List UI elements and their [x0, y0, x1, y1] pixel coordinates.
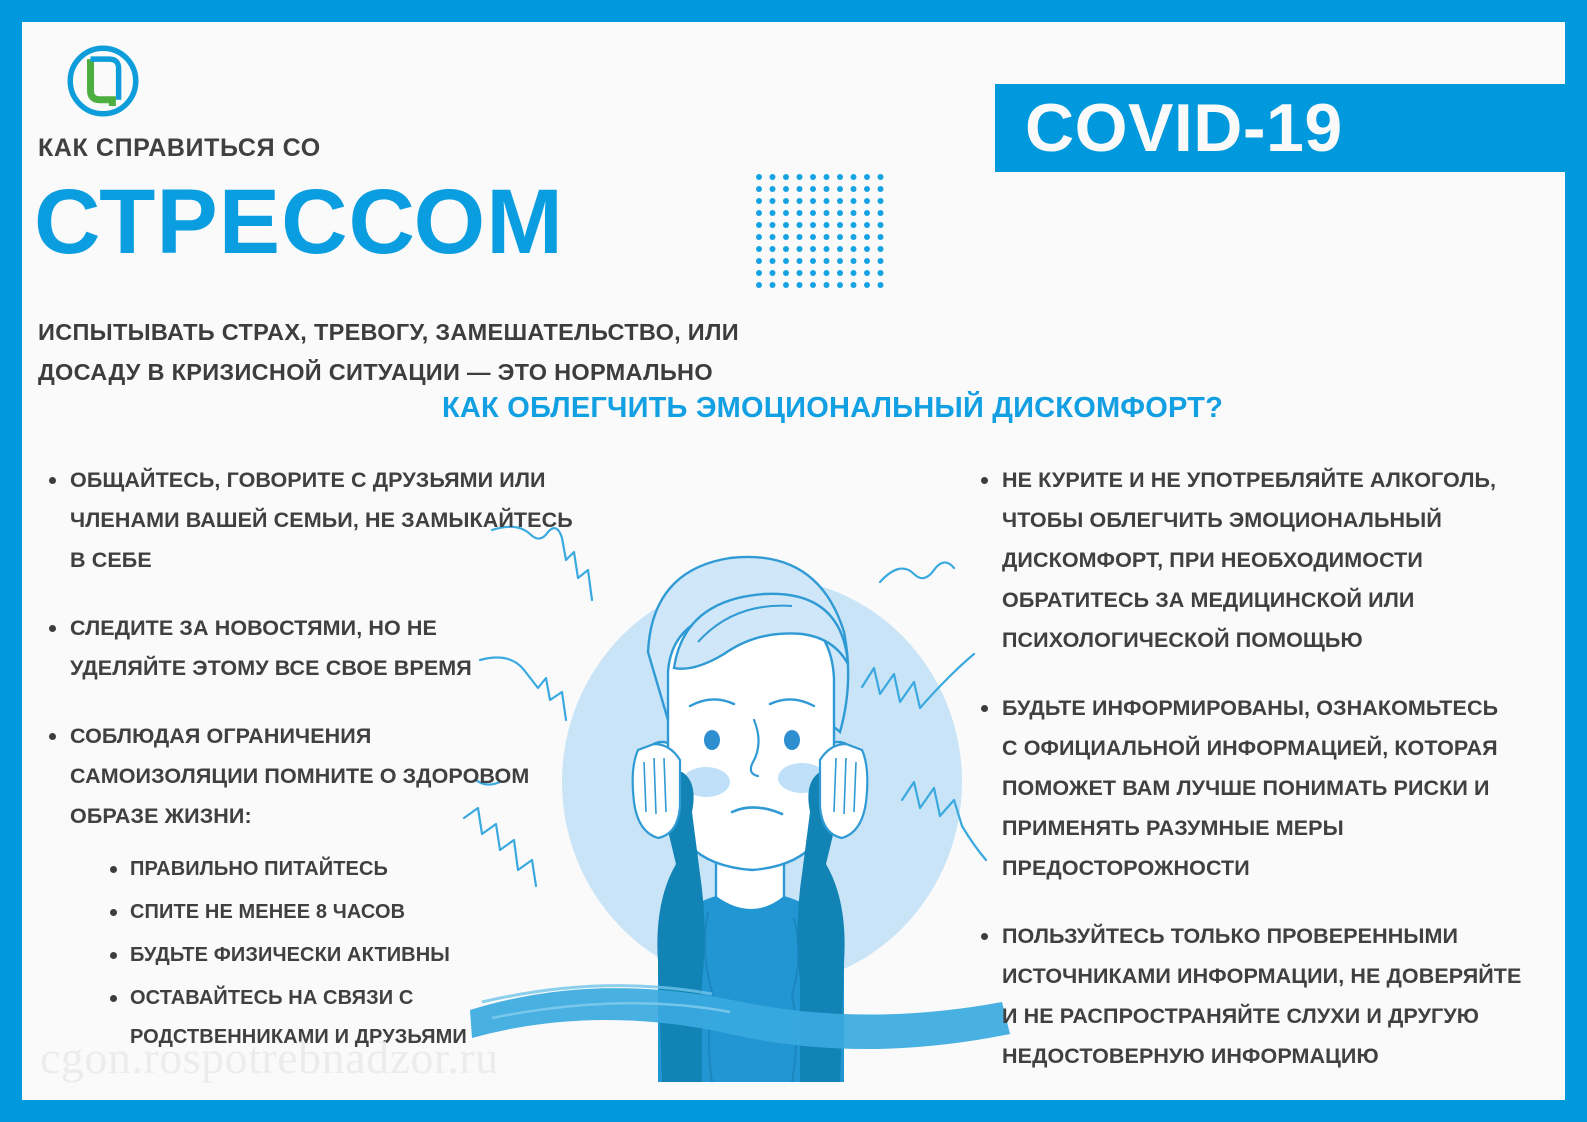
list-item: ПОЛЬЗУЙТЕСЬ ТОЛЬКО ПРОВЕРЕННЫМИ ИСТОЧНИК… [970, 916, 1550, 1076]
sub-bullet-line: ОСТАВАЙТЕСЬ НА СВЯЗИ С [130, 979, 608, 1018]
sub-list: ПРАВИЛЬНО ПИТАЙТЕСЬ СПИТЕ НЕ МЕНЕЕ 8 ЧАС… [70, 850, 608, 1057]
list-item: ОБЩАЙТЕСЬ, ГОВОРИТЕ С ДРУЗЬЯМИ ИЛИ ЧЛЕНА… [38, 460, 608, 580]
site-watermark: cgon.rospotrebnadzor.ru [40, 1031, 499, 1084]
list-item: СОБЛЮДАЯ ОГРАНИЧЕНИЯ САМОИЗОЛЯЦИИ ПОМНИТ… [38, 716, 608, 1057]
sub-bullet-line: ПРАВИЛЬНО ПИТАЙТЕСЬ [130, 850, 608, 889]
list-item: БУДЬТЕ ИНФОРМИРОВАНЫ, ОЗНАКОМЬТЕСЬ С ОФИ… [970, 688, 1550, 888]
bullet-line: БУДЬТЕ ИНФОРМИРОВАНЫ, ОЗНАКОМЬТЕСЬ [1002, 688, 1550, 728]
bullet-line: ОБРАЗЕ ЖИЗНИ: [70, 796, 608, 836]
bullet-line: И НЕ РАСПРОСТРАНЯЙТЕ СЛУХИ И ДРУГУЮ [1002, 996, 1550, 1036]
subtitle-line: ИСПЫТЫВАТЬ СТРАХ, ТРЕВОГУ, ЗАМЕШАТЕЛЬСТВ… [38, 312, 738, 352]
sub-bullet-line: БУДЬТЕ ФИЗИЧЕСКИ АКТИВНЫ [130, 936, 608, 975]
sub-list-item: СПИТЕ НЕ МЕНЕЕ 8 ЧАСОВ [102, 893, 608, 932]
bullet-line: ПОЛЬЗУЙТЕСЬ ТОЛЬКО ПРОВЕРЕННЫМИ [1002, 916, 1550, 956]
bullet-line: В СЕБЕ [70, 540, 608, 580]
bullet-line: ДИСКОМФОРТ, ПРИ НЕОБХОДИМОСТИ [1002, 540, 1550, 580]
bullet-line: СЛЕДИТЕ ЗА НОВОСТЯМИ, НО НЕ [70, 608, 608, 648]
subtitle-line: ДОСАДУ В КРИЗИСНОЙ СИТУАЦИИ — ЭТО НОРМАЛ… [38, 352, 738, 392]
page-kicker: КАК СПРАВИТЬСЯ СО [38, 134, 321, 163]
covid-banner: COVID-19 [995, 84, 1565, 172]
sub-list-item: ПРАВИЛЬНО ПИТАЙТЕСЬ [102, 850, 608, 889]
dot-grid-decoration [756, 174, 886, 294]
sub-list-item: БУДЬТЕ ФИЗИЧЕСКИ АКТИВНЫ [102, 936, 608, 975]
poster-root: COVID-19 КАК СПРАВИТЬСЯ СО СТРЕССОМ ИСПЫ… [0, 0, 1587, 1122]
list-item: СЛЕДИТЕ ЗА НОВОСТЯМИ, НО НЕ УДЕЛЯЙТЕ ЭТО… [38, 608, 608, 688]
bullet-line: ПРИМЕНЯТЬ РАЗУМНЫЕ МЕРЫ [1002, 808, 1550, 848]
cgon-logo-icon [64, 42, 142, 120]
bullet-line: ИСТОЧНИКАМИ ИНФОРМАЦИИ, НЕ ДОВЕРЯЙТЕ [1002, 956, 1550, 996]
bullet-line: ОБРАТИТЕСЬ ЗА МЕДИЦИНСКОЙ ИЛИ [1002, 580, 1550, 620]
sub-bullet-line: СПИТЕ НЕ МЕНЕЕ 8 ЧАСОВ [130, 893, 608, 932]
poster-inner: COVID-19 КАК СПРАВИТЬСЯ СО СТРЕССОМ ИСПЫ… [22, 22, 1565, 1100]
tips-column-left: ОБЩАЙТЕСЬ, ГОВОРИТЕ С ДРУЗЬЯМИ ИЛИ ЧЛЕНА… [38, 460, 608, 1085]
bullet-line: СОБЛЮДАЯ ОГРАНИЧЕНИЯ [70, 716, 608, 756]
bullet-line: С ОФИЦИАЛЬНОЙ ИНФОРМАЦИЕЙ, КОТОРАЯ [1002, 728, 1550, 768]
bullet-line: ЧЛЕНАМИ ВАШЕЙ СЕМЬИ, НЕ ЗАМЫКАЙТЕСЬ [70, 500, 608, 540]
tips-column-right: НЕ КУРИТЕ И НЕ УПОТРЕБЛЯЙТЕ АЛКОГОЛЬ, ЧТ… [970, 460, 1550, 1100]
bullet-line: САМОИЗОЛЯЦИИ ПОМНИТЕ О ЗДОРОВОМ [70, 756, 608, 796]
covid-banner-label: COVID-19 [1025, 89, 1343, 167]
page-subtitle: ИСПЫТЫВАТЬ СТРАХ, ТРЕВОГУ, ЗАМЕШАТЕЛЬСТВ… [38, 312, 738, 392]
bullet-line: ОБЩАЙТЕСЬ, ГОВОРИТЕ С ДРУЗЬЯМИ ИЛИ [70, 460, 608, 500]
bullet-line: НЕ КУРИТЕ И НЕ УПОТРЕБЛЯЙТЕ АЛКОГОЛЬ, [1002, 460, 1550, 500]
bullet-line: ПСИХОЛОГИЧЕСКОЙ ПОМОЩЬЮ [1002, 620, 1550, 660]
bullet-line: НЕДОСТОВЕРНУЮ ИНФОРМАЦИЮ [1002, 1036, 1550, 1076]
bullet-line: ЧТОБЫ ОБЛЕГЧИТЬ ЭМОЦИОНАЛЬНЫЙ [1002, 500, 1550, 540]
page-title: СТРЕССОМ [34, 174, 564, 270]
section-question-heading: КАК ОБЛЕГЧИТЬ ЭМОЦИОНАЛЬНЫЙ ДИСКОМФОРТ? [442, 392, 1223, 425]
list-item: НЕ КУРИТЕ И НЕ УПОТРЕБЛЯЙТЕ АЛКОГОЛЬ, ЧТ… [970, 460, 1550, 660]
bullet-line: ПРЕДОСТОРОЖНОСТИ [1002, 848, 1550, 888]
bullet-line: ПОМОЖЕТ ВАМ ЛУЧШЕ ПОНИМАТЬ РИСКИ И [1002, 768, 1550, 808]
bullet-line: УДЕЛЯЙТЕ ЭТОМУ ВСЕ СВОЕ ВРЕМЯ [70, 648, 608, 688]
